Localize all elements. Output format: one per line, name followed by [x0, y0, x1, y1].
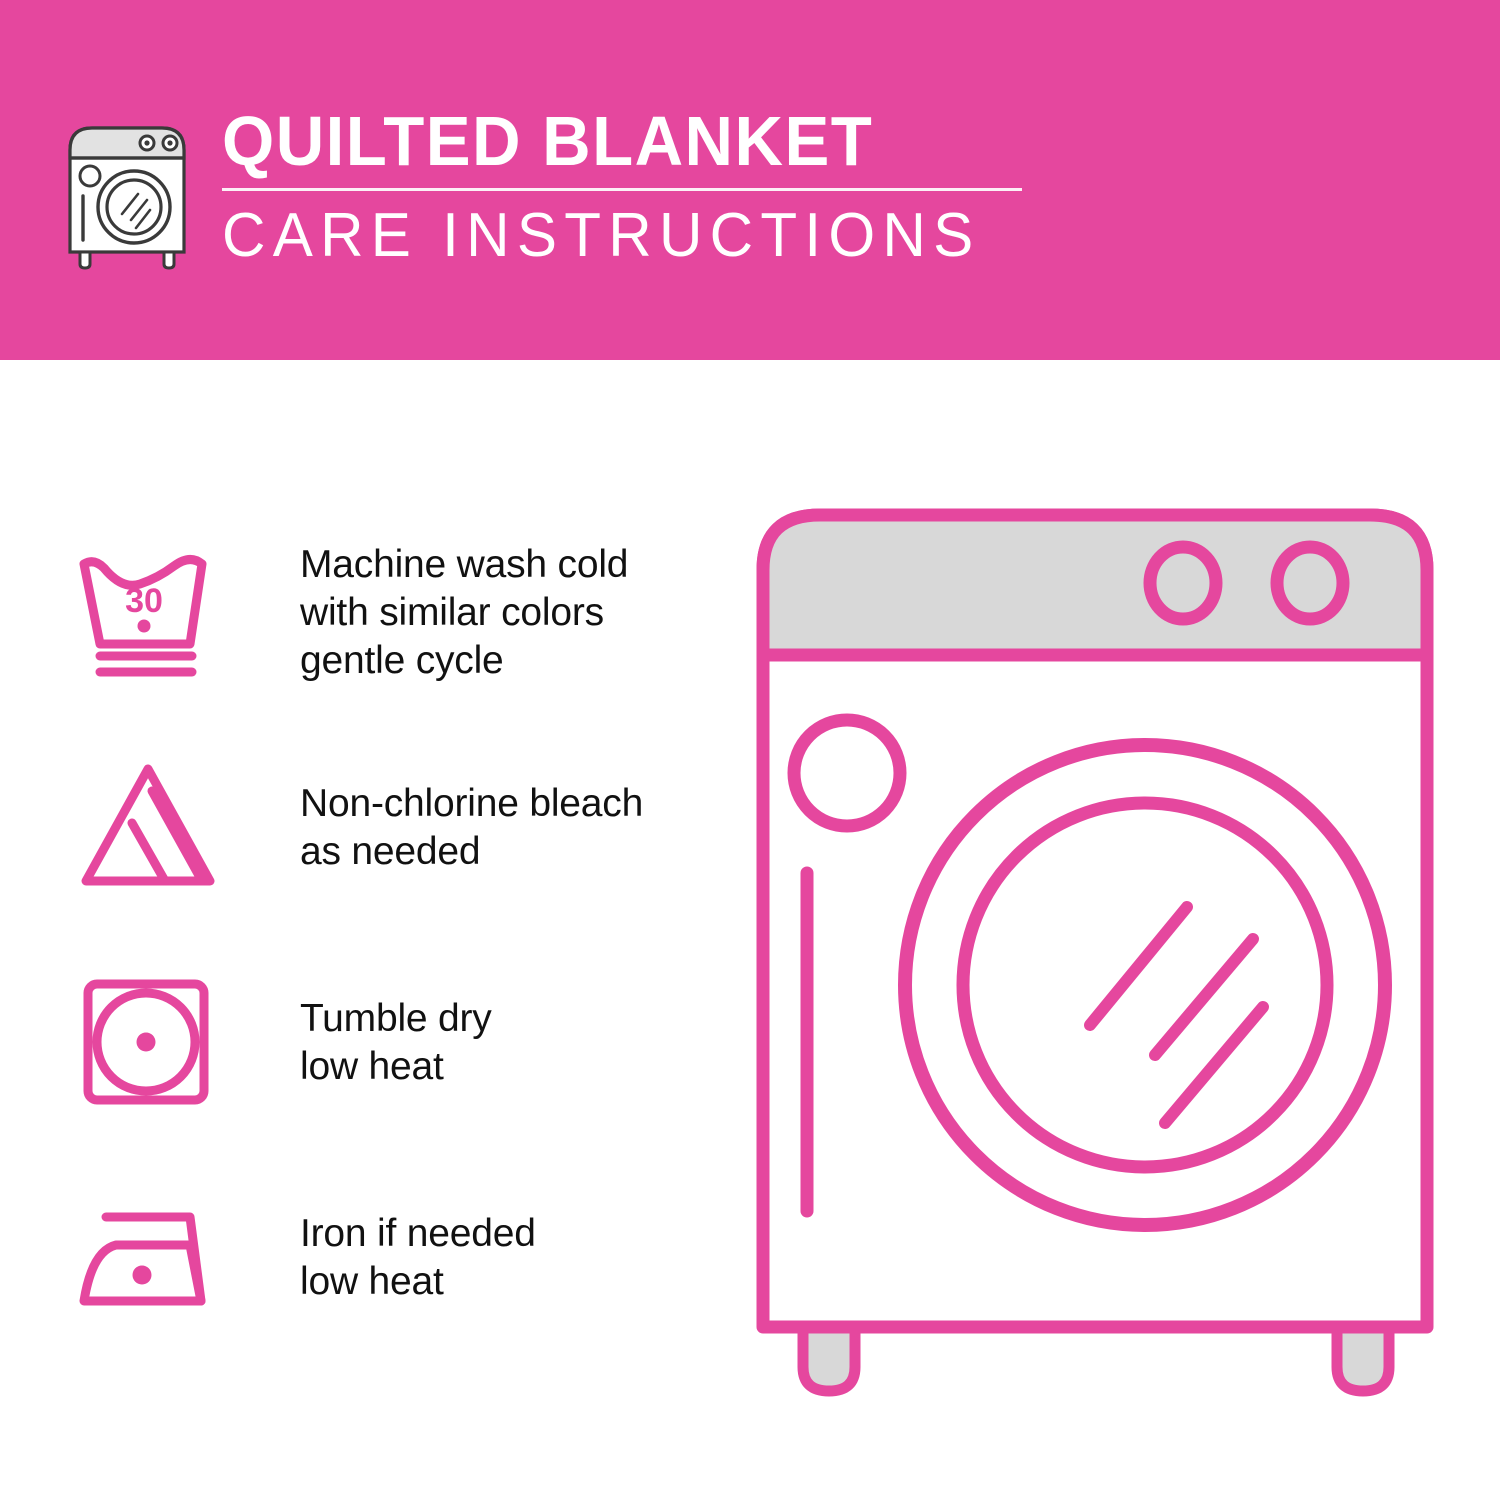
care-row: Non-chlorine bleach as needed — [70, 720, 710, 935]
non-chlorine-bleach-triangle-symbol — [70, 753, 245, 903]
care-label: Tumble dry low heat — [300, 995, 492, 1091]
page-title: QUILTED BLANKET — [222, 102, 990, 180]
care-row: Tumble dry low heat — [70, 935, 710, 1150]
washing-machine-icon — [62, 110, 192, 270]
care-label: Non-chlorine bleach as needed — [300, 780, 643, 876]
wash-tub-30-symbol: 30 — [70, 538, 245, 688]
care-row: Iron if needed low heat — [70, 1150, 710, 1365]
care-label: Iron if needed low heat — [300, 1210, 536, 1306]
page-subtitle: CARE INSTRUCTIONS — [222, 201, 998, 271]
care-row: 30 Machine wash cold with similar colors… — [70, 505, 710, 720]
wash-temperature-value: 30 — [125, 582, 163, 620]
iron-low-heat-symbol — [70, 1183, 245, 1333]
care-instruction-list: 30 Machine wash cold with similar colors… — [70, 505, 710, 1365]
header-titles: QUILTED BLANKET CARE INSTRUCTIONS — [222, 100, 1022, 271]
header-band: QUILTED BLANKET CARE INSTRUCTIONS — [0, 0, 1500, 360]
care-label: Machine wash cold with similar colors ge… — [300, 541, 628, 685]
care-instructions-page: QUILTED BLANKET CARE INSTRUCTIONS 30 — [0, 0, 1500, 1500]
header-content: QUILTED BLANKET CARE INSTRUCTIONS — [62, 100, 1022, 271]
tumble-dry-low-symbol — [70, 968, 245, 1118]
large-washing-machine-illustration — [745, 495, 1445, 1415]
title-divider — [222, 188, 1022, 191]
